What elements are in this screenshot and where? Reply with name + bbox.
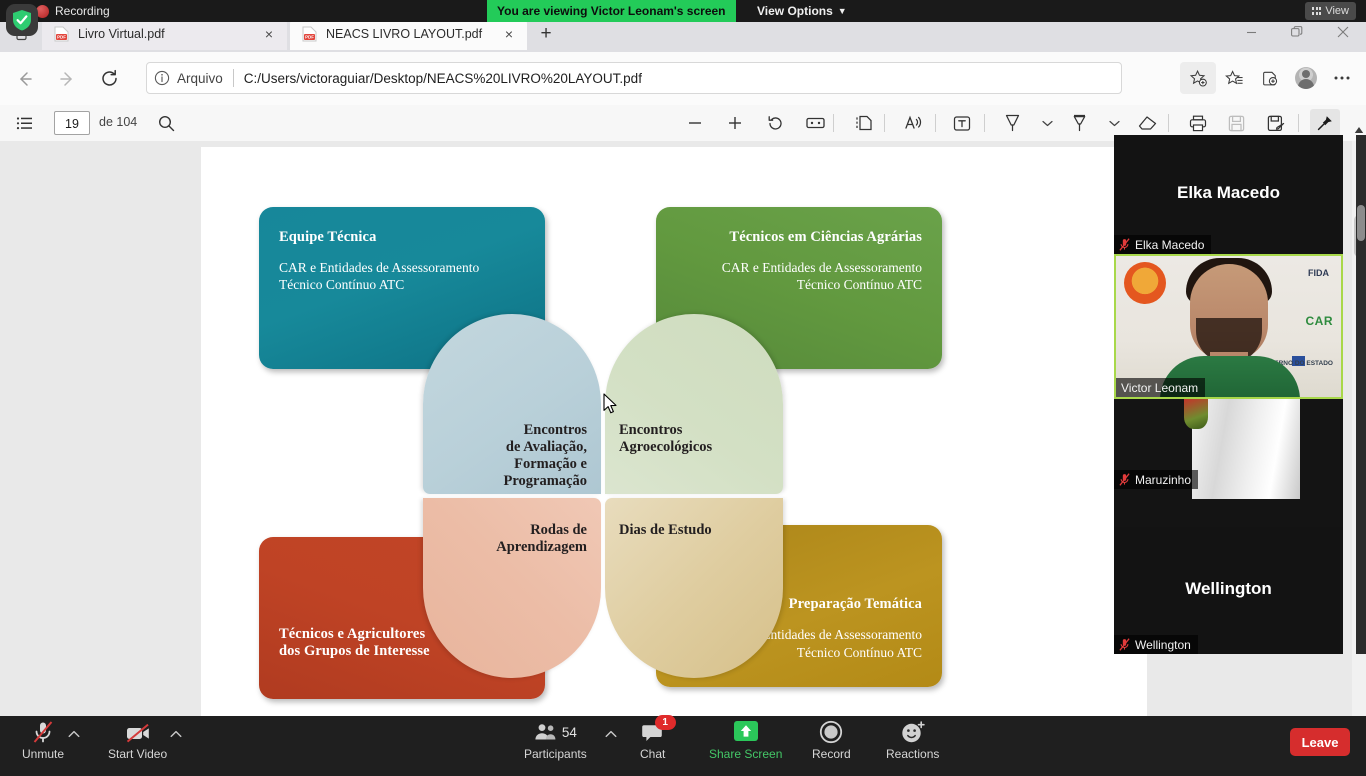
chevron-down-icon [1109, 120, 1120, 127]
zoom-tile-name: Victor Leonam [1121, 381, 1198, 395]
zoom-participants-panel: Elka Macedo Elka Macedo FIDA CAR GOVERNO… [1110, 135, 1366, 661]
petal-label-line: Encontros [423, 422, 587, 439]
address-separator [233, 69, 234, 87]
profile-button[interactable] [1288, 62, 1324, 94]
box-subtitle: CAR e Entidades de Assessoramento Técnic… [676, 259, 922, 294]
zoom-top-bar: Recording You are viewing Victor Leonam'… [0, 0, 1366, 22]
petal-label-line: Agroecológicos [619, 439, 783, 456]
zoom-leave-button[interactable]: Leave [1290, 728, 1350, 756]
mouse-cursor [603, 393, 618, 420]
address-scheme-label: Arquivo [177, 71, 223, 86]
settings-and-more-button[interactable] [1324, 62, 1360, 94]
back-arrow-icon [16, 70, 34, 88]
favorites-list-icon [1225, 69, 1244, 88]
add-text-icon [953, 115, 971, 132]
rotate-icon [767, 115, 784, 132]
avatar [1295, 67, 1317, 89]
ellipsis-icon [1333, 75, 1351, 81]
search-button[interactable] [152, 109, 180, 137]
microphone-muted-icon [1119, 238, 1130, 251]
box-title: Equipe Técnica [279, 229, 525, 246]
highlight-button[interactable] [1065, 109, 1093, 137]
zoom-tile-namebar: Wellington [1114, 635, 1198, 654]
zoom-out-icon [687, 115, 703, 131]
draw-pen-icon [1004, 114, 1021, 132]
zoom-tile-namebar: Victor Leonam [1116, 378, 1205, 397]
diagram-petal-encontros-agroecologicos: Encontros Agroecológicos [605, 314, 783, 494]
zoom-tile-wellington[interactable]: Wellington Wellington [1114, 527, 1343, 654]
page-view-button[interactable] [850, 109, 878, 137]
zoom-reactions-button[interactable]: Reactions [886, 720, 939, 766]
toolbar-divider [833, 114, 834, 132]
zoom-start-video-label: Start Video [108, 747, 167, 761]
microphone-muted-icon [1119, 473, 1130, 486]
favorites-button[interactable] [1216, 62, 1252, 94]
zoom-out-button[interactable] [681, 109, 709, 137]
erase-button[interactable] [1133, 109, 1161, 137]
zoom-unmute-label: Unmute [22, 747, 64, 761]
zoom-tile-namebar: Maruzinho [1114, 470, 1198, 489]
zoom-tile-namebar: Elka Macedo [1114, 235, 1211, 254]
diagram-petal-dias-de-estudo: Dias de Estudo [605, 498, 783, 678]
share-screen-icon [730, 720, 762, 744]
box-subtitle-line: Técnico Contínuo ATC [279, 276, 525, 293]
box-title: Técnicos em Ciências Agrárias [676, 229, 922, 246]
participants-icon: 54 [534, 720, 577, 744]
toolbar-divider [1168, 114, 1169, 132]
zoom-tile-victor-leonam[interactable]: FIDA CAR GOVERNO DO ESTADO Victor Leonam [1114, 254, 1343, 399]
add-text-button[interactable] [948, 109, 976, 137]
svg-text:PDF: PDF [57, 34, 66, 39]
shield-icon [12, 9, 32, 31]
zoom-tile-name: Elka Macedo [1135, 238, 1204, 252]
zoom-in-button[interactable] [721, 109, 749, 137]
save-button[interactable] [1222, 109, 1250, 137]
chat-unread-badge: 1 [655, 715, 676, 730]
diagram-petal-rodas-aprendizagem: Rodas de Aprendizagem [423, 498, 601, 678]
page-total-label: de 104 [99, 115, 137, 129]
view-options-button[interactable]: View Options ▼ [747, 0, 857, 22]
chevron-up-icon [605, 730, 617, 738]
zoom-participants-options-button[interactable] [605, 730, 617, 776]
pdf-icon: PDF [302, 26, 317, 42]
back-button[interactable] [8, 62, 42, 96]
zoom-participants-label: Participants [524, 747, 587, 761]
fit-width-icon [806, 116, 825, 130]
zoom-unmute-button[interactable]: Unmute [22, 720, 64, 766]
petal-label-line: de Avaliação, [423, 439, 587, 456]
box-subtitle-line: Técnico Contínuo ATC [676, 276, 922, 293]
reload-icon [100, 69, 119, 88]
zoom-reactions-label: Reactions [886, 747, 939, 761]
petal-label-line: Aprendizagem [423, 539, 587, 556]
chevron-down-icon [1042, 120, 1053, 127]
zoom-audio-options-button[interactable] [68, 730, 80, 776]
zoom-share-screen-button[interactable]: Share Screen [709, 720, 782, 766]
car-logo: CAR [1306, 314, 1334, 328]
petal-label-line: Formação e [423, 456, 587, 473]
save-as-icon [1267, 115, 1285, 132]
close-icon[interactable]: × [499, 24, 519, 44]
diagram-petal-encontros-avaliacao: Encontros de Avaliação, Formação e Progr… [423, 314, 601, 494]
address-bar[interactable]: Arquivo C:/Users/victoraguiar/Desktop/NE… [146, 62, 1122, 94]
zoom-tile-video: FIDA CAR GOVERNO DO ESTADO [1116, 256, 1341, 397]
highlighter-icon [1071, 114, 1088, 132]
chevron-up-icon [170, 730, 182, 738]
zoom-in-icon [727, 115, 743, 131]
address-url-text: C:/Users/victoraguiar/Desktop/NEACS%20LI… [244, 71, 642, 86]
close-icon[interactable]: × [259, 24, 279, 44]
petal-label-line: Programação [423, 473, 587, 490]
participants-count: 54 [562, 725, 577, 740]
zoom-tile-video [1192, 399, 1300, 499]
petal-label-line: Rodas de [423, 522, 587, 539]
page-view-icon [855, 115, 873, 131]
pin-icon [1317, 115, 1333, 131]
screen-share-banner-text: You are viewing Victor Leonam's screen [497, 4, 726, 18]
zoom-share-screen-label: Share Screen [709, 747, 782, 761]
zoom-meeting-toolbar: Unmute Start Video 54 Participants [0, 716, 1366, 768]
zoom-tile-name: Wellington [1135, 638, 1191, 652]
zoom-leave-label: Leave [1302, 735, 1339, 750]
grid-icon [1312, 7, 1321, 15]
antivirus-shield-badge[interactable] [6, 4, 38, 36]
add-favorite-button[interactable] [1180, 62, 1216, 94]
browser-tab-title: Livro Virtual.pdf [78, 27, 255, 41]
petal-label-line: Dias de Estudo [619, 522, 783, 539]
collections-button[interactable] [1252, 62, 1288, 94]
caret-up-icon [1353, 125, 1365, 135]
zoom-tile-elka-macedo[interactable]: Elka Macedo Elka Macedo [1114, 135, 1343, 254]
zoom-tile-name: Maruzinho [1135, 473, 1191, 487]
pdf-page-canvas: Equipe Técnica CAR e Entidades de Assess… [201, 147, 1147, 716]
toolbar-divider [984, 114, 985, 132]
fit-page-button[interactable] [801, 109, 829, 137]
box-subtitle-line: CAR e Entidades de Assessoramento [676, 259, 922, 276]
zoom-tile-placeholder-name: Elka Macedo [1114, 183, 1343, 203]
record-icon [819, 720, 843, 744]
chat-icon: 1 [641, 720, 665, 744]
draw-options-button[interactable] [1033, 109, 1061, 137]
address-bar-actions [1180, 62, 1360, 94]
toc-button[interactable] [10, 109, 38, 137]
reactions-icon [900, 720, 926, 744]
pdf-icon: PDF [54, 26, 69, 42]
highlight-options-button[interactable] [1100, 109, 1128, 137]
fida-logo: FIDA [1308, 268, 1329, 278]
draw-button[interactable] [998, 109, 1026, 137]
zoom-chat-button[interactable]: 1 Chat [640, 720, 665, 766]
recording-label: Recording [55, 4, 110, 18]
zoom-record-label: Record [812, 747, 851, 761]
forward-button[interactable] [50, 62, 84, 96]
save-as-button[interactable] [1262, 109, 1290, 137]
restore-icon [1291, 26, 1303, 38]
zoom-tile-placeholder-name: Wellington [1114, 579, 1343, 599]
print-icon [1189, 115, 1207, 132]
zoom-video-options-button[interactable] [170, 730, 182, 776]
print-button[interactable] [1184, 109, 1212, 137]
close-icon [1337, 26, 1349, 38]
read-aloud-icon [904, 115, 923, 131]
table-of-contents-icon [16, 116, 33, 131]
toolbar-divider [935, 114, 936, 132]
zoom-chat-label: Chat [640, 747, 665, 761]
microphone-muted-icon [1119, 638, 1130, 651]
view-options-label: View Options [757, 4, 833, 18]
toolbar-divider [1298, 114, 1299, 132]
microphone-muted-icon [31, 720, 55, 744]
box-subtitle: CAR e Entidades de Assessoramento Técnic… [279, 259, 525, 294]
save-icon [1228, 115, 1245, 132]
camera-off-icon [125, 720, 151, 744]
collections-icon [1261, 69, 1280, 88]
screen-share-banner: You are viewing Victor Leonam's screen [487, 0, 736, 22]
view-layout-label: View [1325, 5, 1349, 17]
chevron-up-icon [68, 730, 80, 738]
zoom-tile-maruzinho[interactable]: Maruzinho [1114, 399, 1343, 527]
new-tab-button[interactable]: + [533, 22, 559, 46]
view-layout-button[interactable]: View [1305, 2, 1356, 20]
zoom-panel-scrollbar-thumb[interactable] [1357, 205, 1365, 241]
box-subtitle-line: CAR e Entidades de Assessoramento [279, 259, 525, 276]
read-aloud-button[interactable] [899, 109, 927, 137]
recording-indicator: Recording [36, 0, 110, 22]
rotate-button[interactable] [761, 109, 789, 137]
toolbar-divider [884, 114, 885, 132]
search-icon [158, 115, 175, 132]
reload-button[interactable] [92, 62, 126, 96]
svg-text:PDF: PDF [305, 34, 314, 39]
pin-toolbar-button[interactable] [1310, 109, 1340, 137]
pro-semiarido-logo [1124, 262, 1166, 304]
browser-address-row: Arquivo C:/Users/victoraguiar/Desktop/NE… [0, 52, 1366, 105]
browser-tab-title: NEACS LIVRO LAYOUT.pdf [326, 27, 495, 41]
star-plus-icon [1189, 69, 1208, 88]
plant-object [1184, 399, 1208, 429]
zoom-start-video-button[interactable]: Start Video [108, 720, 167, 766]
petal-label-line: Encontros [619, 422, 783, 439]
chevron-down-icon: ▼ [838, 6, 847, 16]
zoom-participants-button[interactable]: 54 Participants [524, 720, 587, 766]
info-icon[interactable] [147, 70, 177, 86]
minimize-icon [1246, 27, 1257, 38]
forward-arrow-icon [58, 70, 76, 88]
flower-diagram: Equipe Técnica CAR e Entidades de Assess… [259, 207, 999, 716]
zoom-panel-scrollbar[interactable] [1356, 135, 1366, 654]
zoom-video-strip: Elka Macedo Elka Macedo FIDA CAR GOVERNO… [1114, 135, 1343, 654]
zoom-record-button[interactable]: Record [812, 720, 851, 766]
page-number-input[interactable]: 19 [54, 111, 90, 135]
eraser-icon [1138, 115, 1157, 131]
